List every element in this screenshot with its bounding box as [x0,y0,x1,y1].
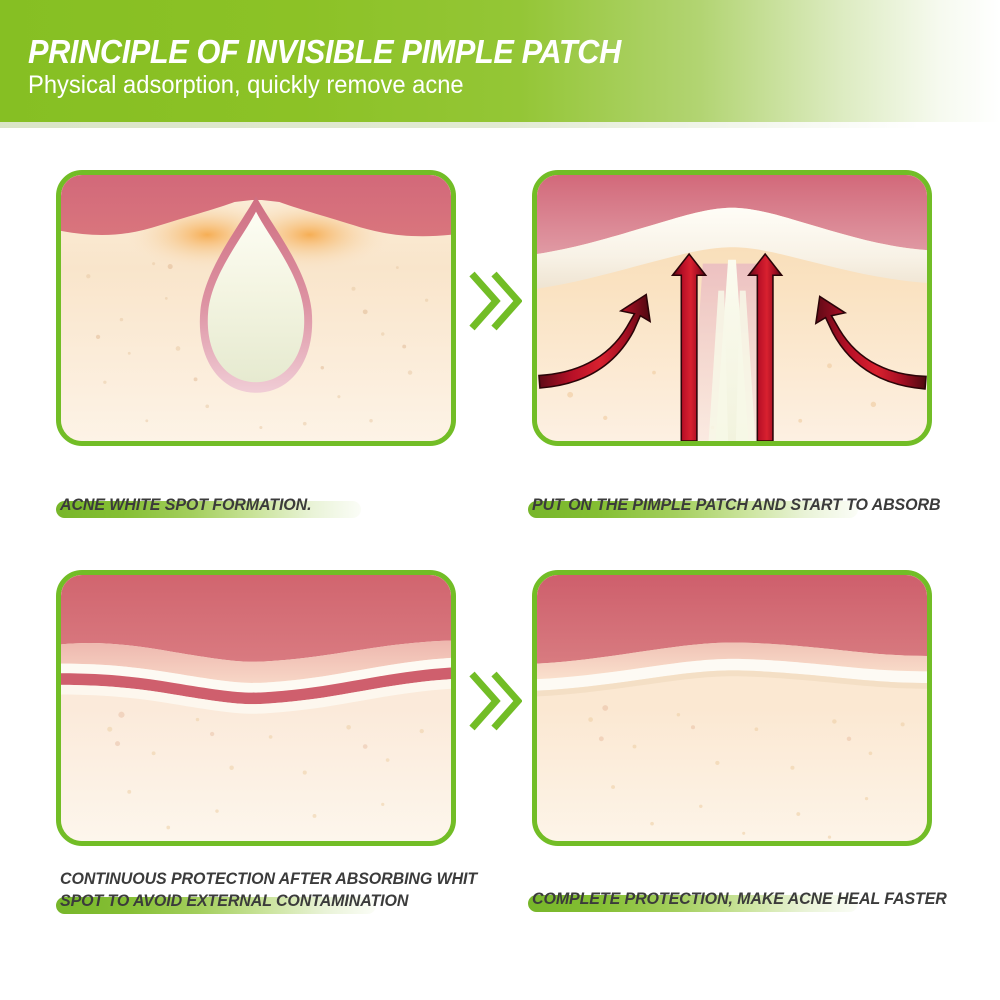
step-1-caption-text: ACNE WHITE SPOT FORMATION. [60,496,311,515]
double-chevron-right-icon [466,266,522,336]
skin-healing-diagram [61,575,451,841]
step-2-caption-text: PUT ON THE PIMPLE PATCH AND START TO ABS… [532,496,940,515]
step-4-caption: COMPLETE PROTECTION, MAKE ACNE HEAL FAST… [528,886,988,920]
header-divider [0,122,1000,128]
step-2-illustration-panel [532,170,932,446]
step-separator-1 [466,266,522,336]
skin-healed-diagram [537,575,927,841]
step-3-caption: CONTINUOUS PROTECTION AFTER ABSORBING WH… [56,870,496,924]
skin-cross-section-pus-diagram [61,175,451,441]
page-title: PRINCIPLE OF INVISIBLE PIMPLE PATCH [28,33,621,71]
infographic-page: PRINCIPLE OF INVISIBLE PIMPLE PATCH Phys… [0,0,1000,1000]
step-4-caption-text: COMPLETE PROTECTION, MAKE ACNE HEAL FAST… [532,890,947,909]
step-1-illustration-panel [56,170,456,446]
step-4-illustration-panel [532,570,932,846]
step-separator-2 [466,666,522,736]
step-3-illustration-panel [56,570,456,846]
step-2-caption: PUT ON THE PIMPLE PATCH AND START TO ABS… [528,492,988,526]
step-3-caption-line-2: SPOT TO AVOID EXTERNAL CONTAMINATION [60,892,408,911]
step-3-caption-line-1: CONTINUOUS PROTECTION AFTER ABSORBING WH… [60,870,477,889]
step-1-caption: ACNE WHITE SPOT FORMATION. [56,492,476,526]
patch-absorption-diagram [537,175,927,441]
double-chevron-right-icon [466,666,522,736]
header-banner: PRINCIPLE OF INVISIBLE PIMPLE PATCH Phys… [0,0,1000,122]
page-subtitle: Physical adsorption, quickly remove acne [28,71,464,100]
